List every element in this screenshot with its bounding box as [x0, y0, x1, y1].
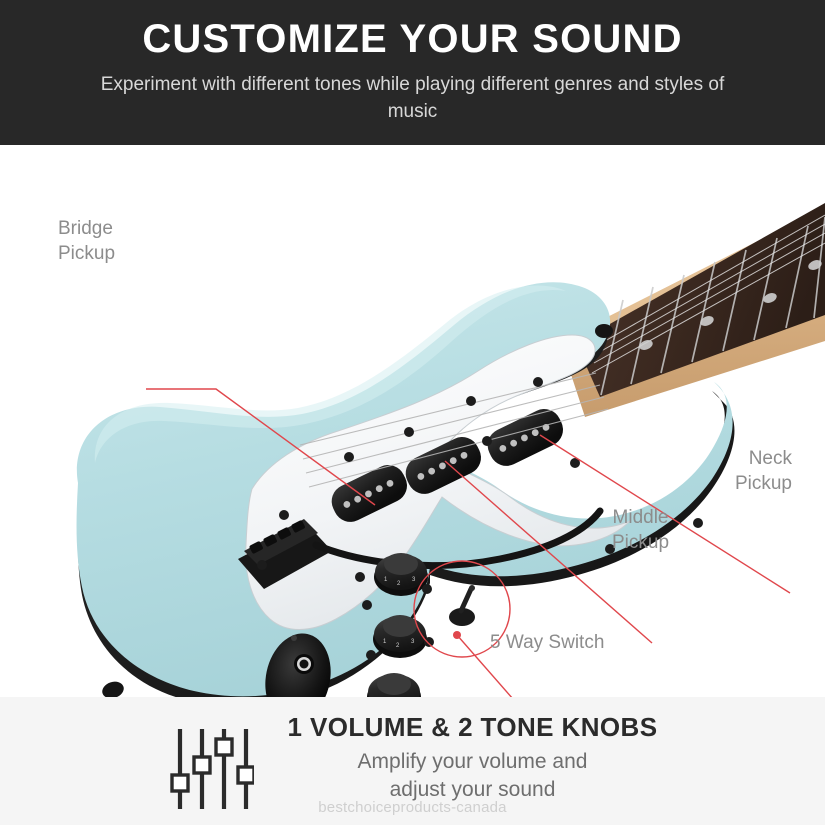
sliders-icon: [168, 723, 254, 815]
five-way-switch-hardware: [449, 585, 475, 626]
page-title: CUSTOMIZE YOUR SOUND: [142, 18, 682, 60]
feature-banner-inner: 1 VOLUME & 2 TONE KNOBS Amplify your vol…: [168, 713, 658, 815]
annotation-endpoints: [453, 631, 461, 639]
guitar-photo: 123 123 123: [0, 145, 825, 697]
guitar-illustration: 123 123 123: [0, 145, 825, 697]
tone-knob-2: 123: [367, 673, 421, 697]
feature-title: 1 VOLUME & 2 TONE KNOBS: [288, 713, 658, 742]
product-feature-image: CUSTOMIZE YOUR SOUND Experiment with dif…: [0, 0, 825, 825]
feature-subtitle: Amplify your volume and adjust your soun…: [358, 748, 588, 805]
callout-neck-pickup: Neck Pickup: [735, 446, 792, 497]
neck-pickup-hardware: [482, 403, 569, 471]
feature-banner: 1 VOLUME & 2 TONE KNOBS Amplify your vol…: [0, 697, 825, 825]
callout-bridge-pickup: Bridge Pickup: [58, 216, 115, 267]
callout-five-way-switch: 5 Way Switch: [490, 630, 604, 655]
feature-banner-text: 1 VOLUME & 2 TONE KNOBS Amplify your vol…: [288, 713, 658, 804]
header-banner: CUSTOMIZE YOUR SOUND Experiment with dif…: [0, 0, 825, 145]
page-subtitle: Experiment with different tones while pl…: [93, 72, 733, 126]
callout-middle-pickup: Middle Pickup: [612, 505, 669, 556]
